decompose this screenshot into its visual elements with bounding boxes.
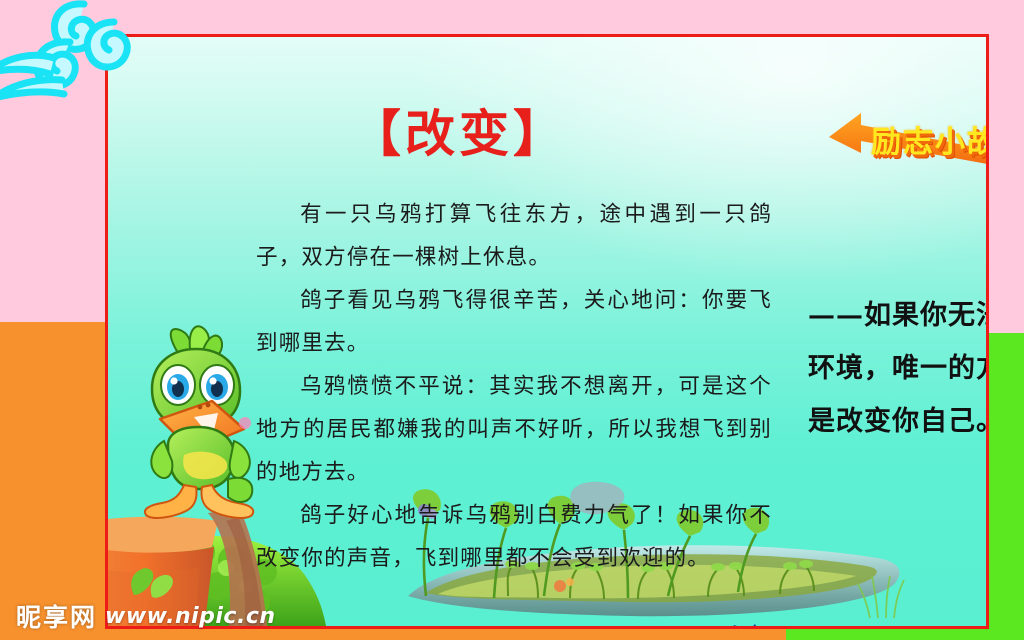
page-title: 【改变】 [294, 109, 624, 159]
story-paragraph: 鸽子好心地告诉乌鸦别白费力气了！如果你不改变你的声音，飞到哪里都不会受到欢迎的。 [256, 494, 772, 580]
banner-lizhi-xiaogushi: 励志小故事 [823, 111, 989, 179]
story-paragraph: 有一只乌鸦打算飞往东方，途中遇到一只鸽子，双方停在一棵树上休息。 [256, 193, 772, 279]
border-left-orange [0, 322, 112, 640]
poster-canvas: 【改变】 励志小故事 有一只乌鸦打算飞往东方，途中遇到一只鸽子，双方停在一棵树上… [0, 0, 1024, 640]
school-logo-icon [728, 621, 762, 629]
cartoon-bird [116, 323, 256, 553]
watermark-site-name: 昵享网 [16, 598, 97, 634]
story-paragraph: 乌鸦愤愤不平说：其实我不想离开，可是这个地方的居民都嫌我的叫声不好听，所以我想飞… [256, 365, 772, 494]
cloud-decoration-bottom-right [988, 593, 989, 629]
watermark-site-url: www.nipic.cn [105, 604, 276, 629]
story-paragraph: 鸽子看见乌鸦飞得很辛苦，关心地问：你要飞到哪里去。 [256, 279, 772, 365]
site-watermark: 昵享网 www.nipic.cn [16, 598, 276, 634]
border-bottom-green [786, 628, 1024, 640]
content-panel: 【改变】 励志小故事 有一只乌鸦打算飞往东方，途中遇到一只鸽子，双方停在一棵树上… [105, 34, 989, 629]
quote-text: ——如果你无法改变环境，唯一的方法就是改变你自己。 [808, 289, 989, 448]
story-text: 有一只乌鸦打算飞往东方，途中遇到一只鸽子，双方停在一棵树上休息。 鸽子看见乌鸦飞… [256, 193, 772, 580]
banner-label: 励志小故事 [871, 117, 989, 161]
border-right-green [988, 333, 1024, 640]
school-signature: 肥城市陶阳矿学校 [728, 621, 954, 629]
school-name: 肥城市陶阳矿学校 [770, 622, 954, 629]
